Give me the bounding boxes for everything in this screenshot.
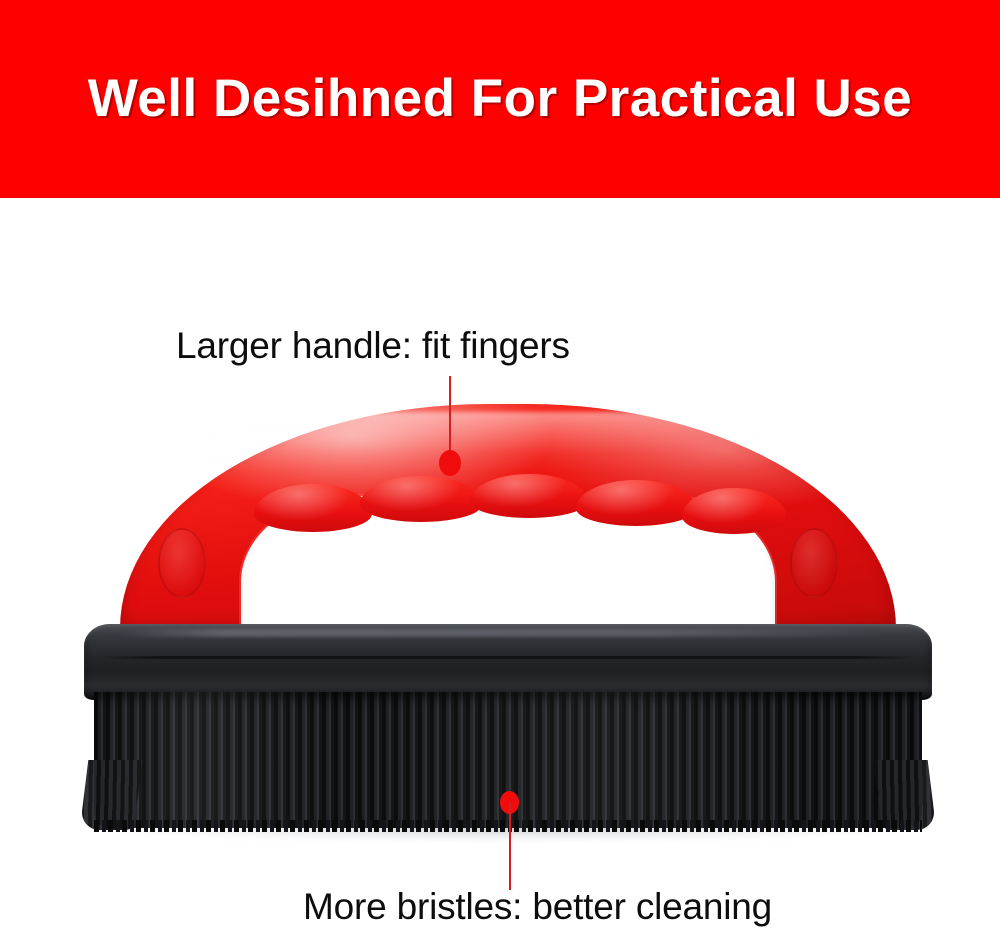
bristle-bottom-edge [94,820,922,832]
housing-seam-line [98,656,918,659]
bristles-callout-line [509,802,511,890]
header-banner: Well Desihned For Practical Use [0,0,1000,198]
handle-indent-right [790,528,838,598]
housing-highlight [118,629,888,637]
handle-callout-dot [439,450,461,476]
banner-title: Well Desihned For Practical Use [0,0,1000,198]
handle-callout-label: Larger handle: fit fingers [176,325,570,367]
handle-indent-left [158,528,206,598]
bristles-callout-label: More bristles: better cleaning [303,886,772,928]
handle-gloss-highlight [174,412,794,472]
product-image-brush [78,400,938,848]
